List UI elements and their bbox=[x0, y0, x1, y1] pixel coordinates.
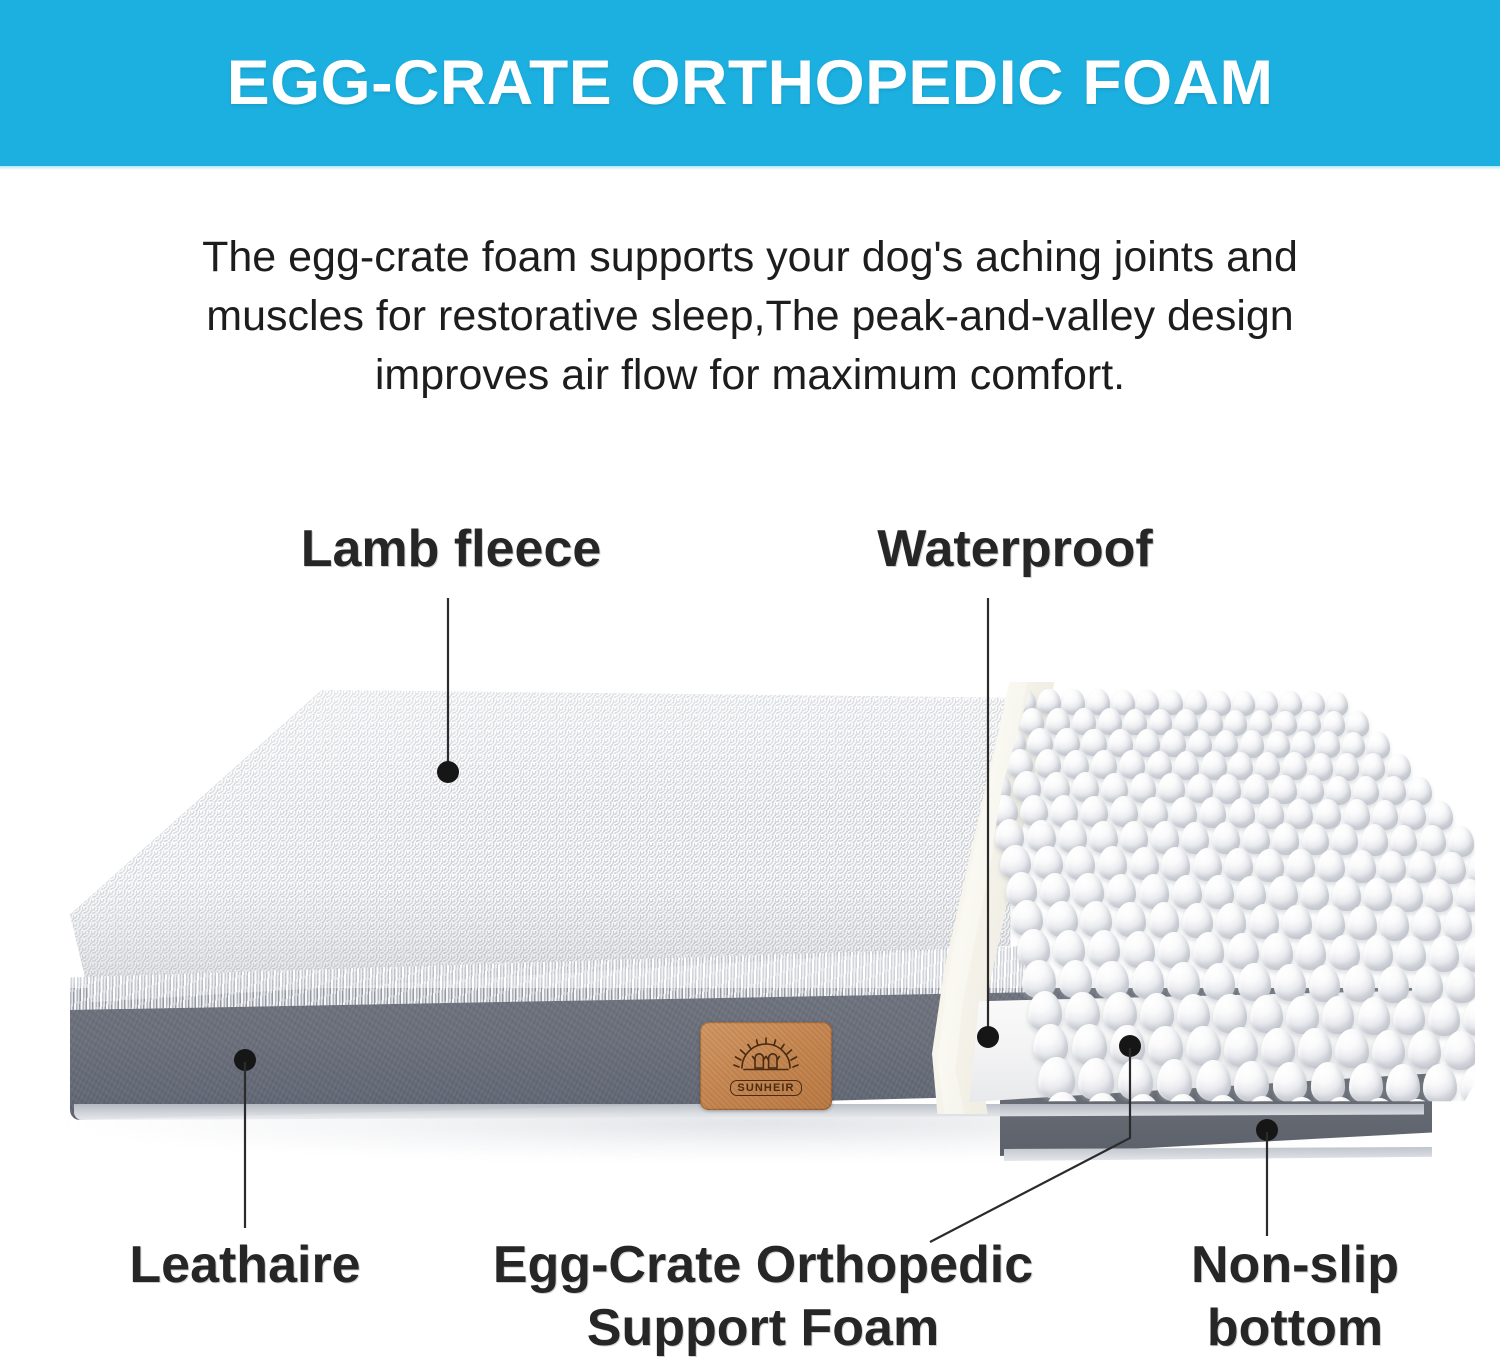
page-title: EGG-CRATE ORTHOPEDIC FOAM bbox=[227, 47, 1274, 119]
brand-name-text: SUNHEIR bbox=[730, 1080, 801, 1096]
foam-nub bbox=[1454, 1136, 1475, 1138]
callout-label-egg-crate-support-foam: Egg-Crate Orthopedic Support Foam bbox=[428, 1234, 1098, 1361]
header-underline-divider bbox=[0, 166, 1500, 170]
sunheir-logo-icon bbox=[732, 1036, 800, 1078]
callout-label-non-slip-bottom: Non-slip bottom bbox=[1075, 1234, 1500, 1361]
callout-label-lamb-fleece: Lamb fleece bbox=[196, 518, 706, 581]
egg-crate-foam-bumps bbox=[955, 678, 1475, 1138]
foam-nub bbox=[1439, 1100, 1473, 1138]
product-description: The egg-crate foam supports your dog's a… bbox=[150, 228, 1350, 405]
header-banner: EGG-CRATE ORTHOPEDIC FOAM bbox=[0, 0, 1500, 166]
callout-label-leathaire: Leathaire bbox=[10, 1234, 480, 1297]
brand-tag-sunheir: SUNHEIR bbox=[700, 1022, 832, 1110]
callout-label-waterproof: Waterproof bbox=[760, 518, 1270, 581]
